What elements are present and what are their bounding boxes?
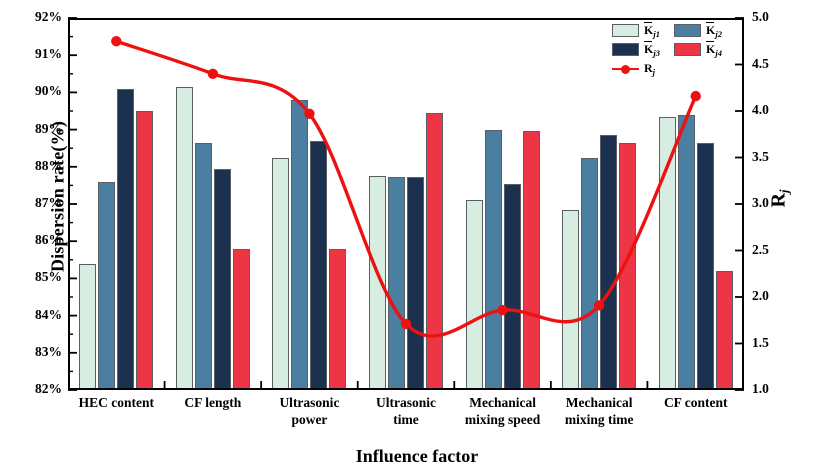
x-axis-category-label: CF content xyxy=(647,394,744,442)
legend-row-2: Kj3 Kj4 xyxy=(612,41,736,58)
y-axis-left-tick-label: 85% xyxy=(14,269,62,285)
y-axis-left-tick-label: 91% xyxy=(14,46,62,62)
y-axis-right-tick-label: 4.0 xyxy=(752,102,804,118)
legend-row-1: Kj1 Kj2 xyxy=(612,22,736,39)
legend-item-rj: Rj xyxy=(612,61,674,77)
legend-label-kj4-sub: j4 xyxy=(715,48,722,58)
x-axis-category-labels: HEC contentCF lengthUltrasonicpowerUltra… xyxy=(68,394,744,442)
legend-item-kj4: Kj4 xyxy=(674,42,736,58)
chart-figure: Dispersion rate(%) Rj Influence factor 8… xyxy=(0,0,834,473)
legend-label-kj3-main: K xyxy=(644,42,653,57)
y-axis-right-tick-label: 1.5 xyxy=(752,335,804,351)
legend-swatch-kj4 xyxy=(674,43,701,56)
legend-label-kj3: Kj3 xyxy=(644,42,660,58)
y-axis-right-tick-label: 5.0 xyxy=(752,9,804,25)
y-axis-right-tick-label: 1.0 xyxy=(752,381,804,397)
legend-label-kj1-main: K xyxy=(644,23,653,38)
legend-swatch-kj2 xyxy=(674,24,701,37)
x-axis-category-label: Ultrasonictime xyxy=(358,394,455,442)
legend-label-kj2-sub: j2 xyxy=(715,29,722,39)
x-axis-title: Influence factor xyxy=(0,446,834,467)
legend-item-kj2: Kj2 xyxy=(674,23,736,39)
legend-swatch-kj1 xyxy=(612,24,639,37)
legend-label-kj2: Kj2 xyxy=(706,23,722,39)
y-axis-left-tick-label: 86% xyxy=(14,232,62,248)
y-axis-left-tick-label: 89% xyxy=(14,121,62,137)
legend-label-kj4-main: K xyxy=(706,42,715,57)
x-axis-category-label: Ultrasonicpower xyxy=(261,394,358,442)
y-axis-right-tick-label: 3.0 xyxy=(752,195,804,211)
chart-legend: Kj1 Kj2 Kj3 Kj4 Rj xyxy=(612,22,736,79)
y-axis-right-tick-label: 2.0 xyxy=(752,288,804,304)
legend-label-rj-main: R xyxy=(644,61,653,75)
legend-label-kj3-sub: j3 xyxy=(653,48,660,58)
legend-label-rj: Rj xyxy=(644,61,655,77)
x-axis-category-label: Mechanicalmixing time xyxy=(551,394,648,442)
y-axis-left-tick-label: 87% xyxy=(14,195,62,211)
y-axis-left-ticks: 82%83%84%85%86%87%88%89%90%91%92% xyxy=(14,18,62,390)
x-axis-category-label: CF length xyxy=(165,394,262,442)
y-axis-left-tick-label: 82% xyxy=(14,381,62,397)
legend-item-kj1: Kj1 xyxy=(612,23,674,39)
y-axis-left-tick-label: 84% xyxy=(14,307,62,323)
y-axis-right-tick-label: 2.5 xyxy=(752,242,804,258)
legend-label-rj-sub: j xyxy=(653,67,655,77)
y-axis-left-tick-label: 90% xyxy=(14,83,62,99)
y-axis-right-tick-label: 3.5 xyxy=(752,149,804,165)
y-axis-right-ticks: 1.01.52.02.53.03.54.04.55.0 xyxy=(752,18,804,390)
x-axis-category-label: HEC content xyxy=(68,394,165,442)
legend-label-kj2-main: K xyxy=(706,23,715,38)
y-axis-right-tick-label: 4.5 xyxy=(752,56,804,72)
legend-swatch-kj3 xyxy=(612,43,639,56)
x-axis-category-label: Mechanicalmixing speed xyxy=(454,394,551,442)
y-axis-left-tick-label: 88% xyxy=(14,158,62,174)
legend-label-kj4: Kj4 xyxy=(706,42,722,58)
legend-row-3: Rj xyxy=(612,60,736,77)
legend-item-kj3: Kj3 xyxy=(612,42,674,58)
legend-swatch-rj xyxy=(612,62,639,75)
legend-label-kj1: Kj1 xyxy=(644,23,660,39)
legend-label-kj1-sub: j1 xyxy=(653,29,660,39)
y-axis-left-tick-label: 83% xyxy=(14,344,62,360)
y-axis-left-tick-label: 92% xyxy=(14,9,62,25)
